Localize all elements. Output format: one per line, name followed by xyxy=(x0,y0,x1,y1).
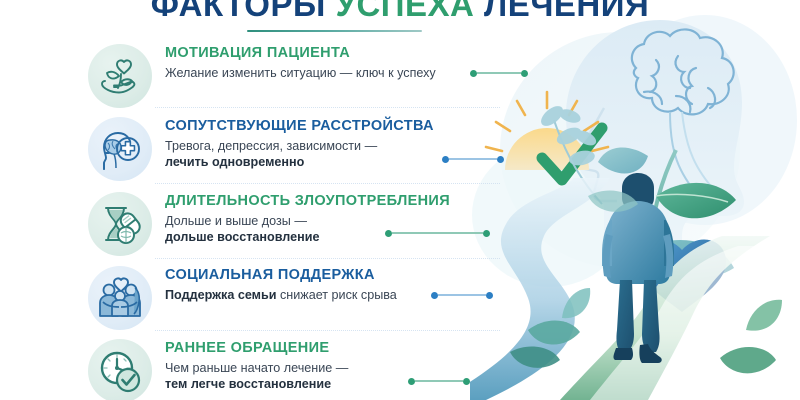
connector-line xyxy=(431,291,493,299)
infographic-canvas: ФАКТОРЫ УСПЕХА ЛЕЧЕНИЯ xyxy=(0,0,800,400)
list-item-heading: МОТИВАЦИЯ ПАЦИЕНТА xyxy=(165,44,465,62)
list-item[interactable]: СОПУТСТВУЮЩИЕ РАССТРОЙСТВА Тревога, депр… xyxy=(0,113,520,185)
list-item-body: Поддержка семьи снижает риск срыва xyxy=(165,287,465,303)
list-item[interactable]: ДЛИТЕЛЬНОСТЬ ЗЛОУПОТРЕБЛЕНИЯ Дольше и вы… xyxy=(0,188,520,260)
connector-segment xyxy=(438,294,486,296)
body-bold: лечить одновременно xyxy=(165,155,304,169)
title-divider xyxy=(247,30,422,32)
list-item[interactable]: МОТИВАЦИЯ ПАЦИЕНТА Желание изменить ситу… xyxy=(0,40,520,112)
list-item-heading: СОЦИАЛЬНАЯ ПОДДЕРЖКА xyxy=(165,266,465,284)
list-item-body: Желание изменить ситуацию — ключ к успех… xyxy=(165,65,465,81)
title-word-1: ФАКТОРЫ xyxy=(151,0,326,23)
connector-dot xyxy=(385,230,392,237)
list-item-text: МОТИВАЦИЯ ПАЦИЕНТА Желание изменить ситу… xyxy=(165,44,465,81)
connector-dot xyxy=(408,378,415,385)
connector-segment xyxy=(449,158,497,160)
list-item-heading: РАННЕЕ ОБРАЩЕНИЕ xyxy=(165,339,465,357)
list-item[interactable]: РАННЕЕ ОБРАЩЕНИЕ Чем раньше начато лечен… xyxy=(0,335,520,400)
list-separator xyxy=(155,330,500,332)
connector-dot xyxy=(483,230,490,237)
list-item-text: ДЛИТЕЛЬНОСТЬ ЗЛОУПОТРЕБЛЕНИЯ Дольше и вы… xyxy=(165,192,465,245)
body-plain: Чем раньше начато лечение — xyxy=(165,361,348,375)
body-plain: Тревога, депрессия, зависимости — xyxy=(165,139,377,153)
connector-segment xyxy=(477,72,521,74)
body-bold: тем легче восстановление xyxy=(165,377,331,391)
list-item-body: Чем раньше начато лечение — тем легче во… xyxy=(165,360,465,392)
connector-dot xyxy=(521,70,528,77)
list-item-heading: ДЛИТЕЛЬНОСТЬ ЗЛОУПОТРЕБЛЕНИЯ xyxy=(165,192,465,210)
connector-dot xyxy=(463,378,470,385)
clock-check-icon xyxy=(88,339,152,400)
page-title: ФАКТОРЫ УСПЕХА ЛЕЧЕНИЯ xyxy=(0,0,800,22)
list-item-body: Тревога, депрессия, зависимости — лечить… xyxy=(165,138,465,170)
list-separator xyxy=(155,183,500,185)
family-heart-icon xyxy=(88,266,152,330)
connector-dot xyxy=(497,156,504,163)
connector-line xyxy=(470,69,528,77)
connector-dot xyxy=(442,156,449,163)
list-item[interactable]: СОЦИАЛЬНАЯ ПОДДЕРЖКА Поддержка семьи сни… xyxy=(0,262,520,334)
hourglass-pill-icon xyxy=(88,192,152,256)
page-header: ФАКТОРЫ УСПЕХА ЛЕЧЕНИЯ xyxy=(0,0,800,22)
connector-segment xyxy=(392,232,483,234)
head-brain-medical-cross-icon xyxy=(88,117,152,181)
list-item-heading: СОПУТСТВУЮЩИЕ РАССТРОЙСТВА xyxy=(165,117,465,135)
title-word-3: ЛЕЧЕНИЯ xyxy=(484,0,649,23)
title-word-2: УСПЕХА xyxy=(335,0,474,23)
connector-line xyxy=(442,155,504,163)
hand-heart-plant-icon xyxy=(88,44,152,108)
body-bold: дольше восстановление xyxy=(165,230,319,244)
connector-segment xyxy=(415,380,463,382)
list-separator xyxy=(155,258,500,260)
list-separator xyxy=(155,107,500,109)
body-bold: Поддержка семьи xyxy=(165,288,276,302)
list-item-text: СОПУТСТВУЮЩИЕ РАССТРОЙСТВА Тревога, депр… xyxy=(165,117,465,170)
connector-dot xyxy=(470,70,477,77)
body-plain: снижает риск срыва xyxy=(276,288,396,302)
list-item-text: СОЦИАЛЬНАЯ ПОДДЕРЖКА Поддержка семьи сни… xyxy=(165,266,465,303)
connector-line xyxy=(385,229,490,237)
connector-dot xyxy=(486,292,493,299)
body-plain: Дольше и выше дозы — xyxy=(165,214,307,228)
body-plain: Желание изменить ситуацию — ключ к успех… xyxy=(165,66,436,80)
connector-dot xyxy=(431,292,438,299)
connector-line xyxy=(408,377,470,385)
